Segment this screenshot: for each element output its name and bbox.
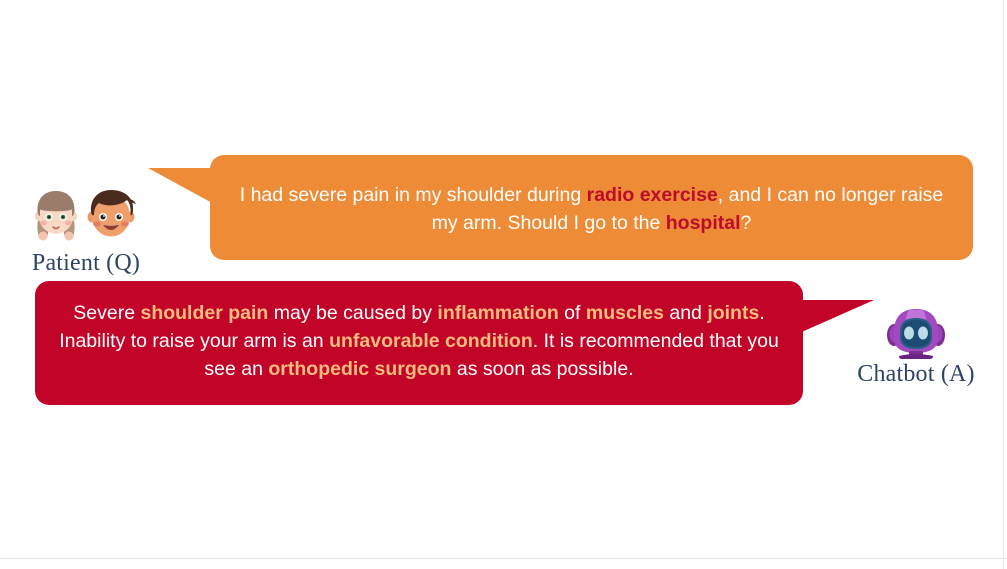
answer-highlight-unfavorable-condition: unfavorable condition <box>329 330 533 352</box>
answer-text-plain-7: as soon as possible. <box>451 358 633 380</box>
chatbot-label: Chatbot (A) <box>848 361 984 387</box>
girl-avatar-icon <box>30 186 82 249</box>
right-divider <box>1003 0 1004 569</box>
slide-canvas: Patient (Q) I had severe pain in my shou… <box>0 0 1007 569</box>
bottom-divider <box>0 558 1007 559</box>
question-speech-bubble: I had severe pain in my shoulder during … <box>210 155 973 260</box>
answer-speech-bubble: Severe shoulder pain may be caused by in… <box>35 281 803 405</box>
robot-avatar-icon <box>885 305 947 361</box>
question-text-plain-1: I had severe pain in my shoulder during <box>240 184 587 206</box>
answer-text-plain-4: and <box>664 302 707 324</box>
patient-speaker-block: Patient (Q) <box>20 186 152 276</box>
boy-avatar-icon <box>82 186 140 249</box>
answer-highlight-joints: joints <box>707 302 759 324</box>
chatbot-avatar-row <box>848 305 984 361</box>
answer-text-plain-1: Severe <box>73 302 140 324</box>
answer-highlight-inflammation: inflammation <box>437 302 558 324</box>
patient-label: Patient (Q) <box>20 250 152 276</box>
question-highlight-hospital: hospital <box>666 212 741 234</box>
answer-text: Severe shoulder pain may be caused by in… <box>59 302 779 380</box>
patient-avatar-row <box>20 186 152 248</box>
answer-highlight-muscles: muscles <box>586 302 664 324</box>
question-text: I had severe pain in my shoulder during … <box>240 184 944 234</box>
question-bubble-tail <box>148 168 214 204</box>
answer-highlight-shoulder-pain: shoulder pain <box>140 302 268 324</box>
chatbot-speaker-block: Chatbot (A) <box>848 305 984 387</box>
question-highlight-radio-exercise: radio exercise <box>587 184 718 206</box>
answer-text-plain-2: may be caused by <box>268 302 437 324</box>
answer-highlight-orthopedic-surgeon: orthopedic surgeon <box>268 358 451 380</box>
question-text-plain-3: ? <box>741 212 752 234</box>
answer-text-plain-3: of <box>559 302 586 324</box>
